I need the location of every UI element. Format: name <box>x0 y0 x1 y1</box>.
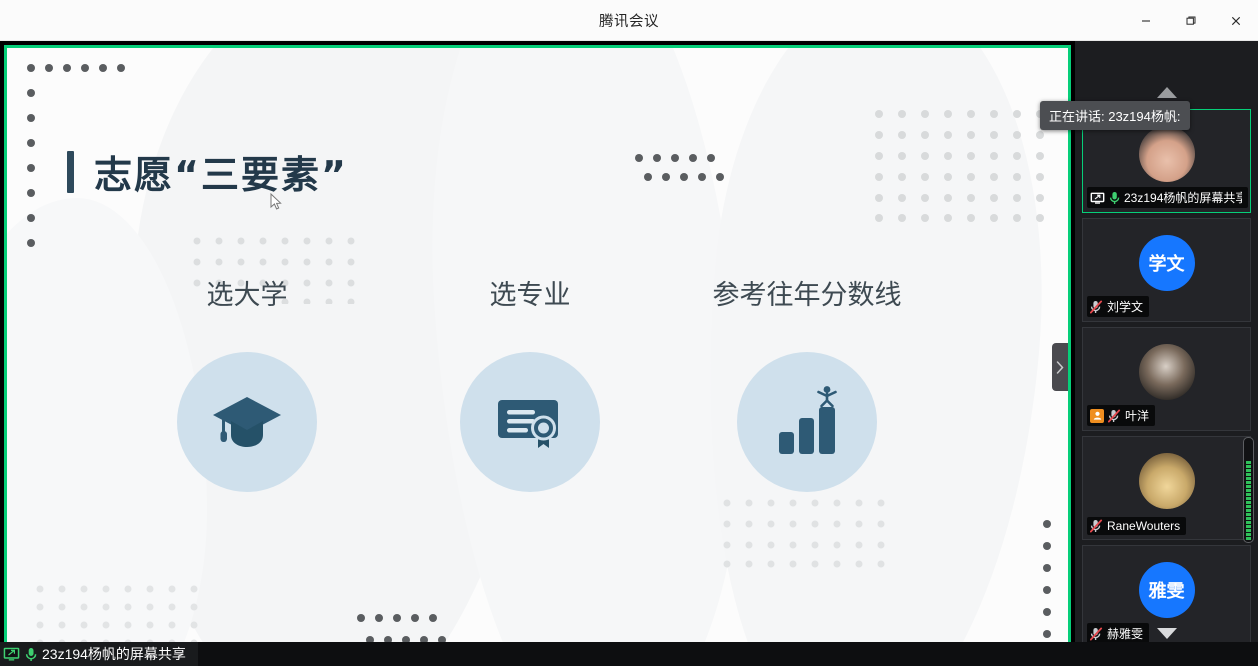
mouse-cursor-icon <box>270 193 282 211</box>
title-accent-bar <box>67 151 74 193</box>
audio-level-meter <box>1243 437 1254 543</box>
certificate-icon <box>494 390 566 454</box>
icon-circle <box>177 352 317 492</box>
nameplate: 23z194杨帆的屏幕共享 <box>1087 187 1248 208</box>
mic-muted-icon <box>1090 519 1103 533</box>
status-share-text: 23z194杨帆的屏幕共享 <box>42 644 186 664</box>
mic-muted-icon <box>1108 409 1121 423</box>
column-heading: 参考往年分数线 <box>707 273 907 312</box>
slide-title: 志愿“三要素” <box>67 144 348 199</box>
avatar <box>1139 126 1195 182</box>
graduation-cap-icon <box>209 389 285 455</box>
dot-grid-below-chart <box>722 498 897 568</box>
column-heading: 选大学 <box>167 273 327 312</box>
participant-name: 23z194杨帆的屏幕共享 <box>1124 189 1242 206</box>
speaking-tooltip: 正在讲话: 23z194杨帆: <box>1040 101 1190 130</box>
title-bar: 腾讯会议 <box>0 0 1258 41</box>
window-controls <box>1123 0 1258 41</box>
share-frame: 志愿“三要素” 选大学 <box>4 45 1071 652</box>
shared-screen-stage: 志愿“三要素” 选大学 <box>0 41 1075 666</box>
participant-tile-ranewouters[interactable]: RaneWouters <box>1082 436 1251 540</box>
slide-title-text: 志愿“三要素” <box>94 144 348 199</box>
screen-share-icon <box>3 647 20 661</box>
column-heading: 选专业 <box>450 273 610 312</box>
dot-grid-right-bottom <box>969 518 1059 649</box>
screen-share-icon <box>1090 192 1105 204</box>
dot-grid-bottom-left <box>35 584 215 649</box>
participant-name: 刘学文 <box>1107 298 1143 315</box>
close-button[interactable] <box>1213 0 1258 41</box>
avatar <box>1139 453 1195 509</box>
triangle-up-icon <box>1156 86 1178 99</box>
mic-unmuted-icon <box>25 647 37 662</box>
bar-chart-person-icon <box>768 383 846 461</box>
nameplate: 叶洋 <box>1087 405 1155 426</box>
chevron-right-icon <box>1056 361 1064 374</box>
participant-panel: 23z194杨帆的屏幕共享 学文 刘学文 <box>1075 41 1258 666</box>
screen-share-status-chip: 23z194杨帆的屏幕共享 <box>0 642 198 666</box>
collapse-panel-button[interactable] <box>1052 343 1068 391</box>
participant-name: 叶洋 <box>1125 407 1149 424</box>
avatar <box>1139 344 1195 400</box>
tencent-meeting-window: 腾讯会议 <box>0 0 1258 666</box>
participant-tile-liuxuewen[interactable]: 学文 刘学文 <box>1082 218 1251 322</box>
icon-circle <box>737 352 877 492</box>
column-select-major: 选专业 <box>450 273 610 492</box>
status-bar: 23z194杨帆的屏幕共享 <box>0 642 1258 666</box>
column-select-university: 选大学 <box>167 273 327 492</box>
avatar: 学文 <box>1139 235 1195 291</box>
dot-grid-top-center <box>633 152 733 184</box>
minimize-button[interactable] <box>1123 0 1168 41</box>
maximize-button[interactable] <box>1168 0 1213 41</box>
mic-muted-icon <box>1090 300 1103 314</box>
nameplate: 刘学文 <box>1087 296 1149 317</box>
participant-tile-yeyang[interactable]: 叶洋 <box>1082 327 1251 431</box>
nameplate: RaneWouters <box>1087 517 1186 535</box>
presentation-slide: 志愿“三要素” 选大学 <box>7 48 1068 649</box>
host-badge-icon <box>1090 409 1104 423</box>
icon-circle <box>460 352 600 492</box>
column-reference-scores: 参考往年分数线 <box>707 273 907 492</box>
mic-unmuted-icon <box>1109 191 1120 205</box>
participant-name: RaneWouters <box>1107 519 1180 533</box>
participant-tiles: 23z194杨帆的屏幕共享 学文 刘学文 <box>1082 109 1251 654</box>
window-title: 腾讯会议 <box>599 10 659 31</box>
avatar: 雅雯 <box>1139 562 1195 618</box>
dot-grid-top-right <box>873 108 1053 223</box>
triangle-down-icon <box>1156 627 1178 640</box>
